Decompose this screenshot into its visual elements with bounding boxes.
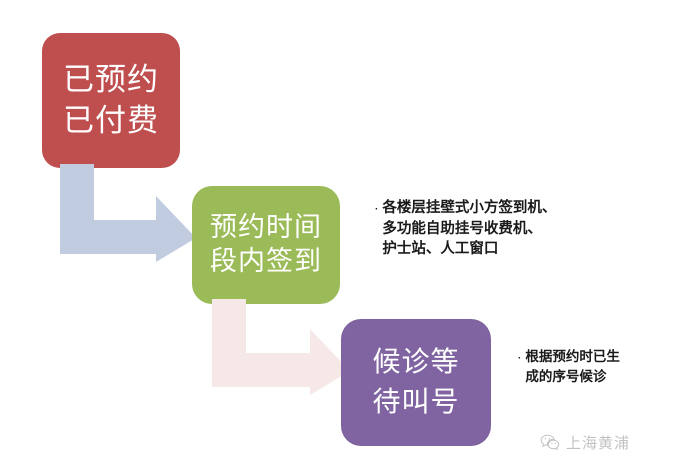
note-waiting-body: 根据预约时已生 成的序号候诊 <box>525 347 620 387</box>
arrow-checkin-to-waiting <box>212 299 350 395</box>
note-checkin: · 各楼层挂壁式小方签到机、 多功能自助挂号收费机、 护士站、人工窗口 <box>375 198 556 260</box>
flow-node-waiting[interactable]: 候诊等 待叫号 <box>341 319 491 446</box>
flow-node-checkin[interactable]: 预约时间 段内签到 <box>192 186 340 304</box>
note-waiting: · 根据预约时已生 成的序号候诊 <box>518 347 620 387</box>
note-checkin-line-3: 护士站、人工窗口 <box>382 239 556 260</box>
wechat-icon <box>540 434 560 451</box>
flow-node-booked[interactable]: 已预约 已付费 <box>42 33 180 168</box>
bullet-icon: · <box>375 205 378 215</box>
note-waiting-line-1: 根据预约时已生 <box>525 347 620 367</box>
note-waiting-line-2: 成的序号候诊 <box>525 367 620 387</box>
bullet-icon: · <box>518 354 521 364</box>
flow-node-waiting-line-1: 候诊等 <box>372 343 459 382</box>
watermark: 上海黄浦 <box>540 432 630 453</box>
watermark-label: 上海黄浦 <box>566 432 630 453</box>
flow-node-booked-line-2: 已付费 <box>63 101 159 142</box>
flow-node-booked-line-1: 已预约 <box>63 60 159 101</box>
note-checkin-line-1: 各楼层挂壁式小方签到机、 <box>382 198 556 219</box>
note-checkin-line-2: 多功能自助挂号收费机、 <box>382 219 556 240</box>
note-checkin-body: 各楼层挂壁式小方签到机、 多功能自助挂号收费机、 护士站、人工窗口 <box>382 198 556 260</box>
flow-node-checkin-line-2: 段内签到 <box>210 245 322 279</box>
arrow-booked-to-checkin <box>60 164 196 262</box>
flow-node-checkin-line-1: 预约时间 <box>210 211 322 245</box>
diagram-canvas: 已预约 已付费 预约时间 段内签到 · 各楼层挂壁式小方签到机、 多功能自助挂号… <box>0 0 680 472</box>
flow-node-waiting-line-2: 待叫号 <box>372 383 459 422</box>
